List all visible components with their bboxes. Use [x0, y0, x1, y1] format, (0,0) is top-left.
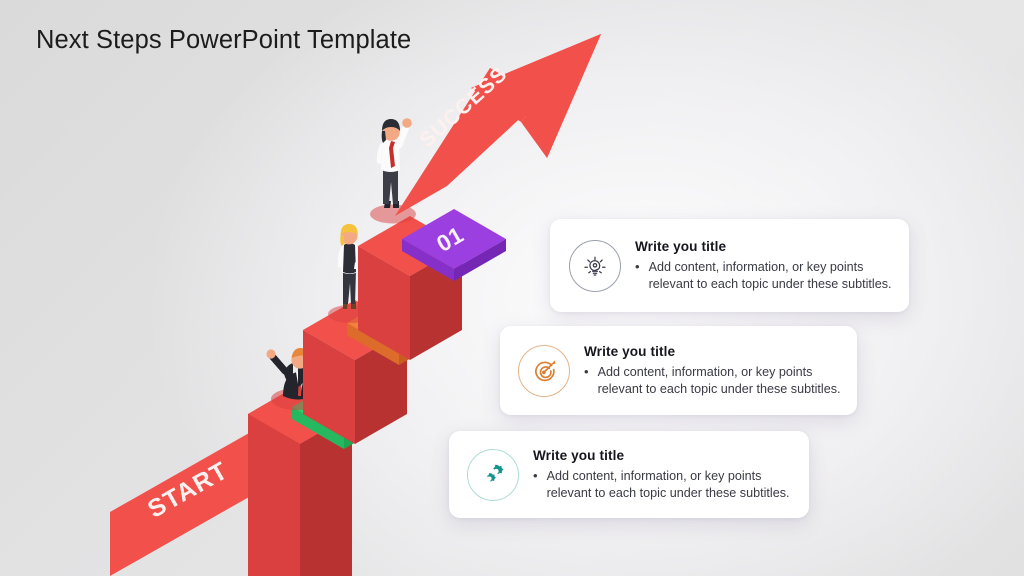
card-2-title: Write you title [584, 344, 843, 359]
content-card-3[interactable]: Write you title • Add content, informati… [449, 431, 809, 518]
gears-icon [467, 449, 519, 501]
card-3-bullet-marker: • [533, 468, 547, 501]
card-2-icon-wrap [500, 345, 570, 397]
card-2-bullet-row: • Add content, information, or key point… [584, 364, 843, 397]
card-1-text: Add content, information, or key points … [649, 259, 895, 292]
target-dart-icon [518, 345, 570, 397]
card-1-body: Write you title • Add content, informati… [621, 239, 909, 292]
card-1-title: Write you title [635, 239, 895, 254]
card-3-bullet-row: • Add content, information, or key point… [533, 468, 795, 501]
card-2-text: Add content, information, or key points … [598, 364, 843, 397]
slide-canvas: Next Steps PowerPoint Template START [0, 0, 1024, 576]
card-2-bullet-marker: • [584, 364, 598, 397]
lightbulb-icon [569, 240, 621, 292]
content-card-1[interactable]: Write you title • Add content, informati… [550, 219, 909, 312]
card-3-icon-wrap [449, 449, 519, 501]
card-1-bullet-row: • Add content, information, or key point… [635, 259, 895, 292]
card-1-icon-wrap [550, 240, 621, 292]
content-card-2[interactable]: Write you title • Add content, informati… [500, 326, 857, 415]
card-3-text: Add content, information, or key points … [547, 468, 795, 501]
card-3-title: Write you title [533, 448, 795, 463]
card-2-body: Write you title • Add content, informati… [570, 344, 857, 397]
card-3-body: Write you title • Add content, informati… [519, 448, 809, 501]
card-1-bullet-marker: • [635, 259, 649, 292]
